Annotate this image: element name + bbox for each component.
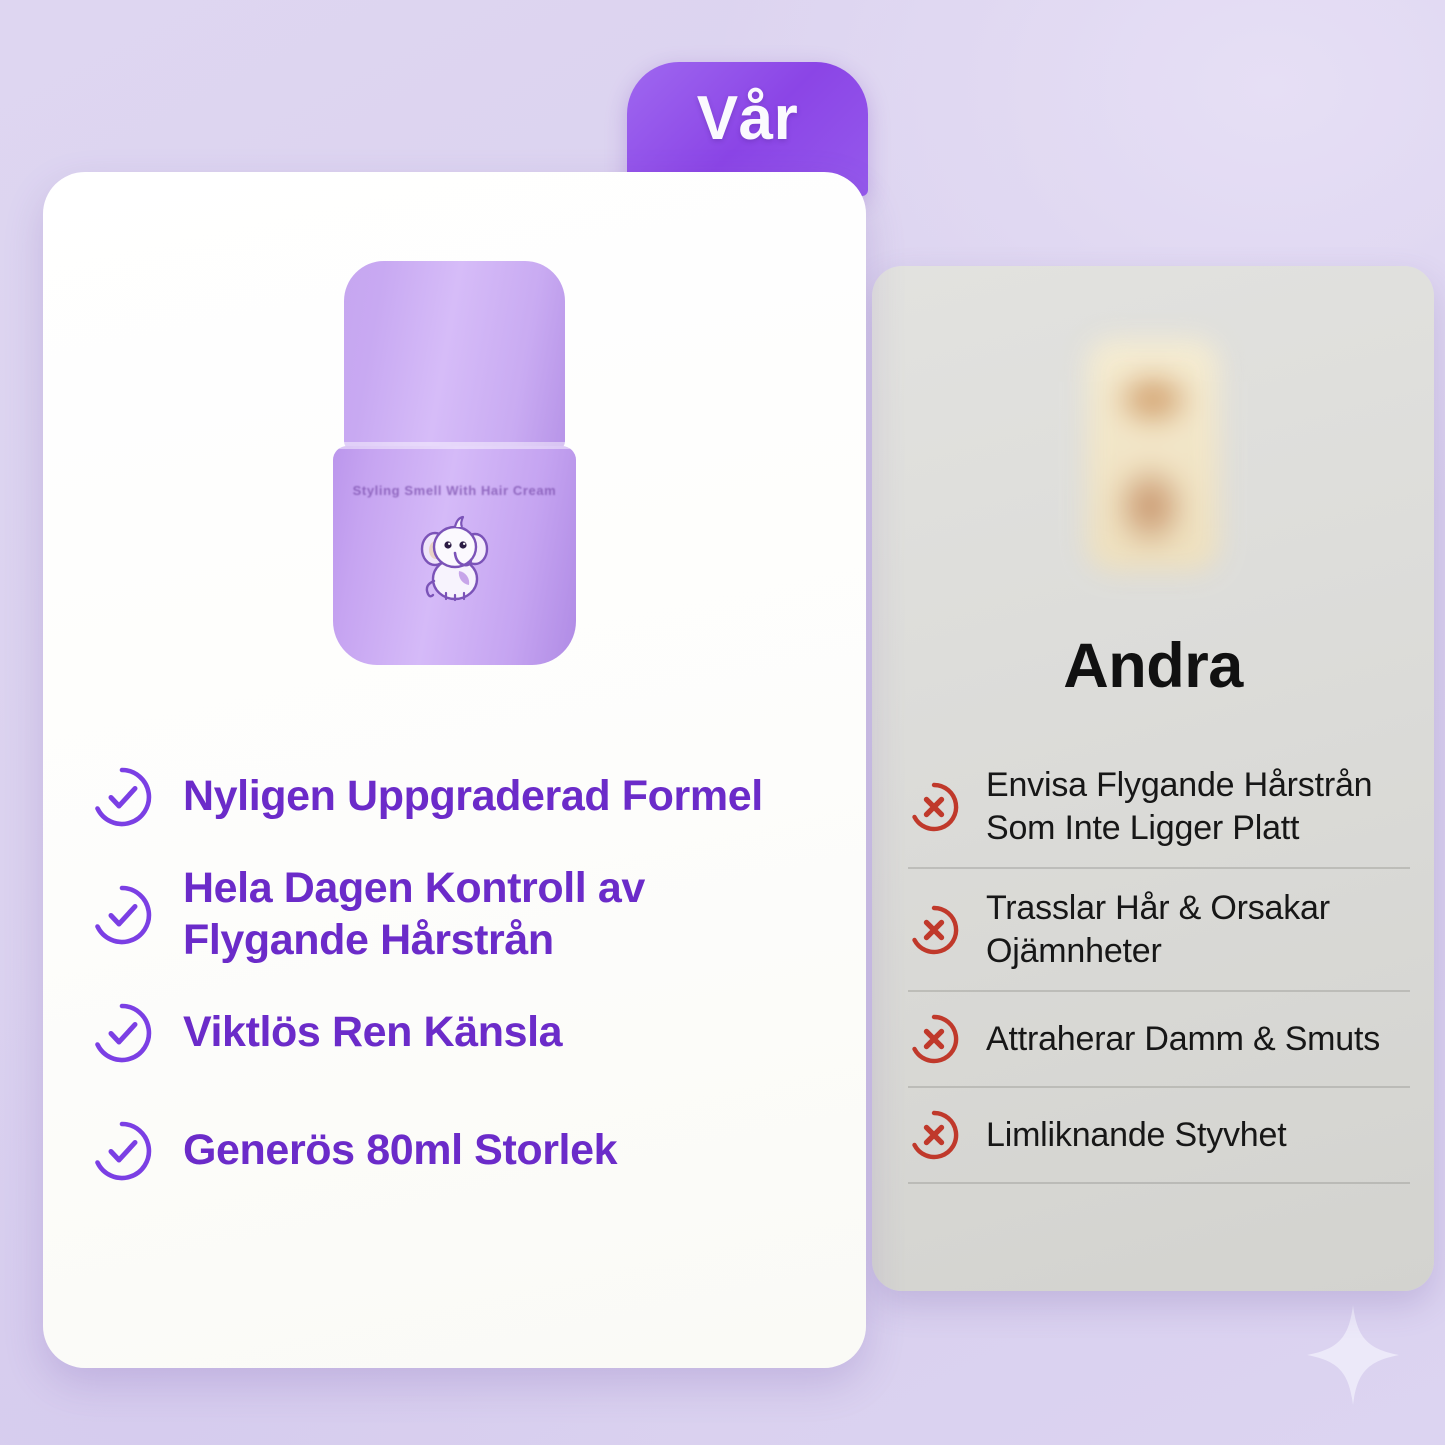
check-circle-icon [91,1002,153,1064]
blurred-product-image [1087,339,1219,571]
list-item: Envisa Flygande Hårstrån Som Inte Ligger… [908,746,1410,869]
bottle-label-text: Styling Smell With Hair Cream [333,483,576,498]
check-circle-icon [91,884,153,946]
list-item-label: Trasslar Hår & Orsakar Ojämnheter [986,887,1410,972]
list-item: Viktlös Ren Känsla [91,974,826,1092]
list-item-label: Limliknande Styvhet [986,1114,1286,1157]
list-item-label: Nyligen Uppgraderad Formel [183,771,763,823]
list-item: Trasslar Hår & Orsakar Ojämnheter [908,869,1410,992]
sparkle-star-icon [1305,1303,1401,1407]
other-comparison-card: Andra Envisa Flygande Hårstrån Som Inte … [872,266,1434,1291]
infographic-canvas: Vår Andra Envisa Flygande Hårstrån Som I… [0,0,1445,1445]
bottle-seam [337,442,572,449]
bottle-cap [344,261,565,451]
product-image: Styling Smell With Hair Cream [43,172,866,732]
other-card-title: Andra [872,630,1434,702]
ours-badge-label: Vår [697,86,798,151]
product-bottle: Styling Smell With Hair Cream [333,261,576,665]
list-item: Generös 80ml Storlek [91,1092,826,1210]
x-circle-icon [908,781,960,833]
elephant-mascot-icon [413,513,497,605]
list-item: Limliknande Styvhet [908,1088,1410,1184]
ours-feature-list: Nyligen Uppgraderad Formel Hela Dagen Ko… [43,738,866,1210]
list-item-label: Envisa Flygande Hårstrån Som Inte Ligger… [986,764,1410,849]
list-item: Hela Dagen Kontroll av Flygande Hårstrån [91,856,826,974]
list-item-label: Viktlös Ren Känsla [183,1007,562,1059]
list-item-label: Generös 80ml Storlek [183,1125,617,1177]
list-item: Attraherar Damm & Smuts [908,992,1410,1088]
x-circle-icon [908,1109,960,1161]
other-product-image [872,266,1434,644]
other-drawback-list: Envisa Flygande Hårstrån Som Inte Ligger… [872,746,1434,1184]
check-circle-icon [91,1120,153,1182]
list-item: Nyligen Uppgraderad Formel [91,738,826,856]
list-item-label: Hela Dagen Kontroll av Flygande Hårstrån [183,863,826,966]
list-item-label: Attraherar Damm & Smuts [986,1018,1380,1061]
ours-comparison-card: Styling Smell With Hair Cream [43,172,866,1368]
check-circle-icon [91,766,153,828]
x-circle-icon [908,1013,960,1065]
x-circle-icon [908,904,960,956]
